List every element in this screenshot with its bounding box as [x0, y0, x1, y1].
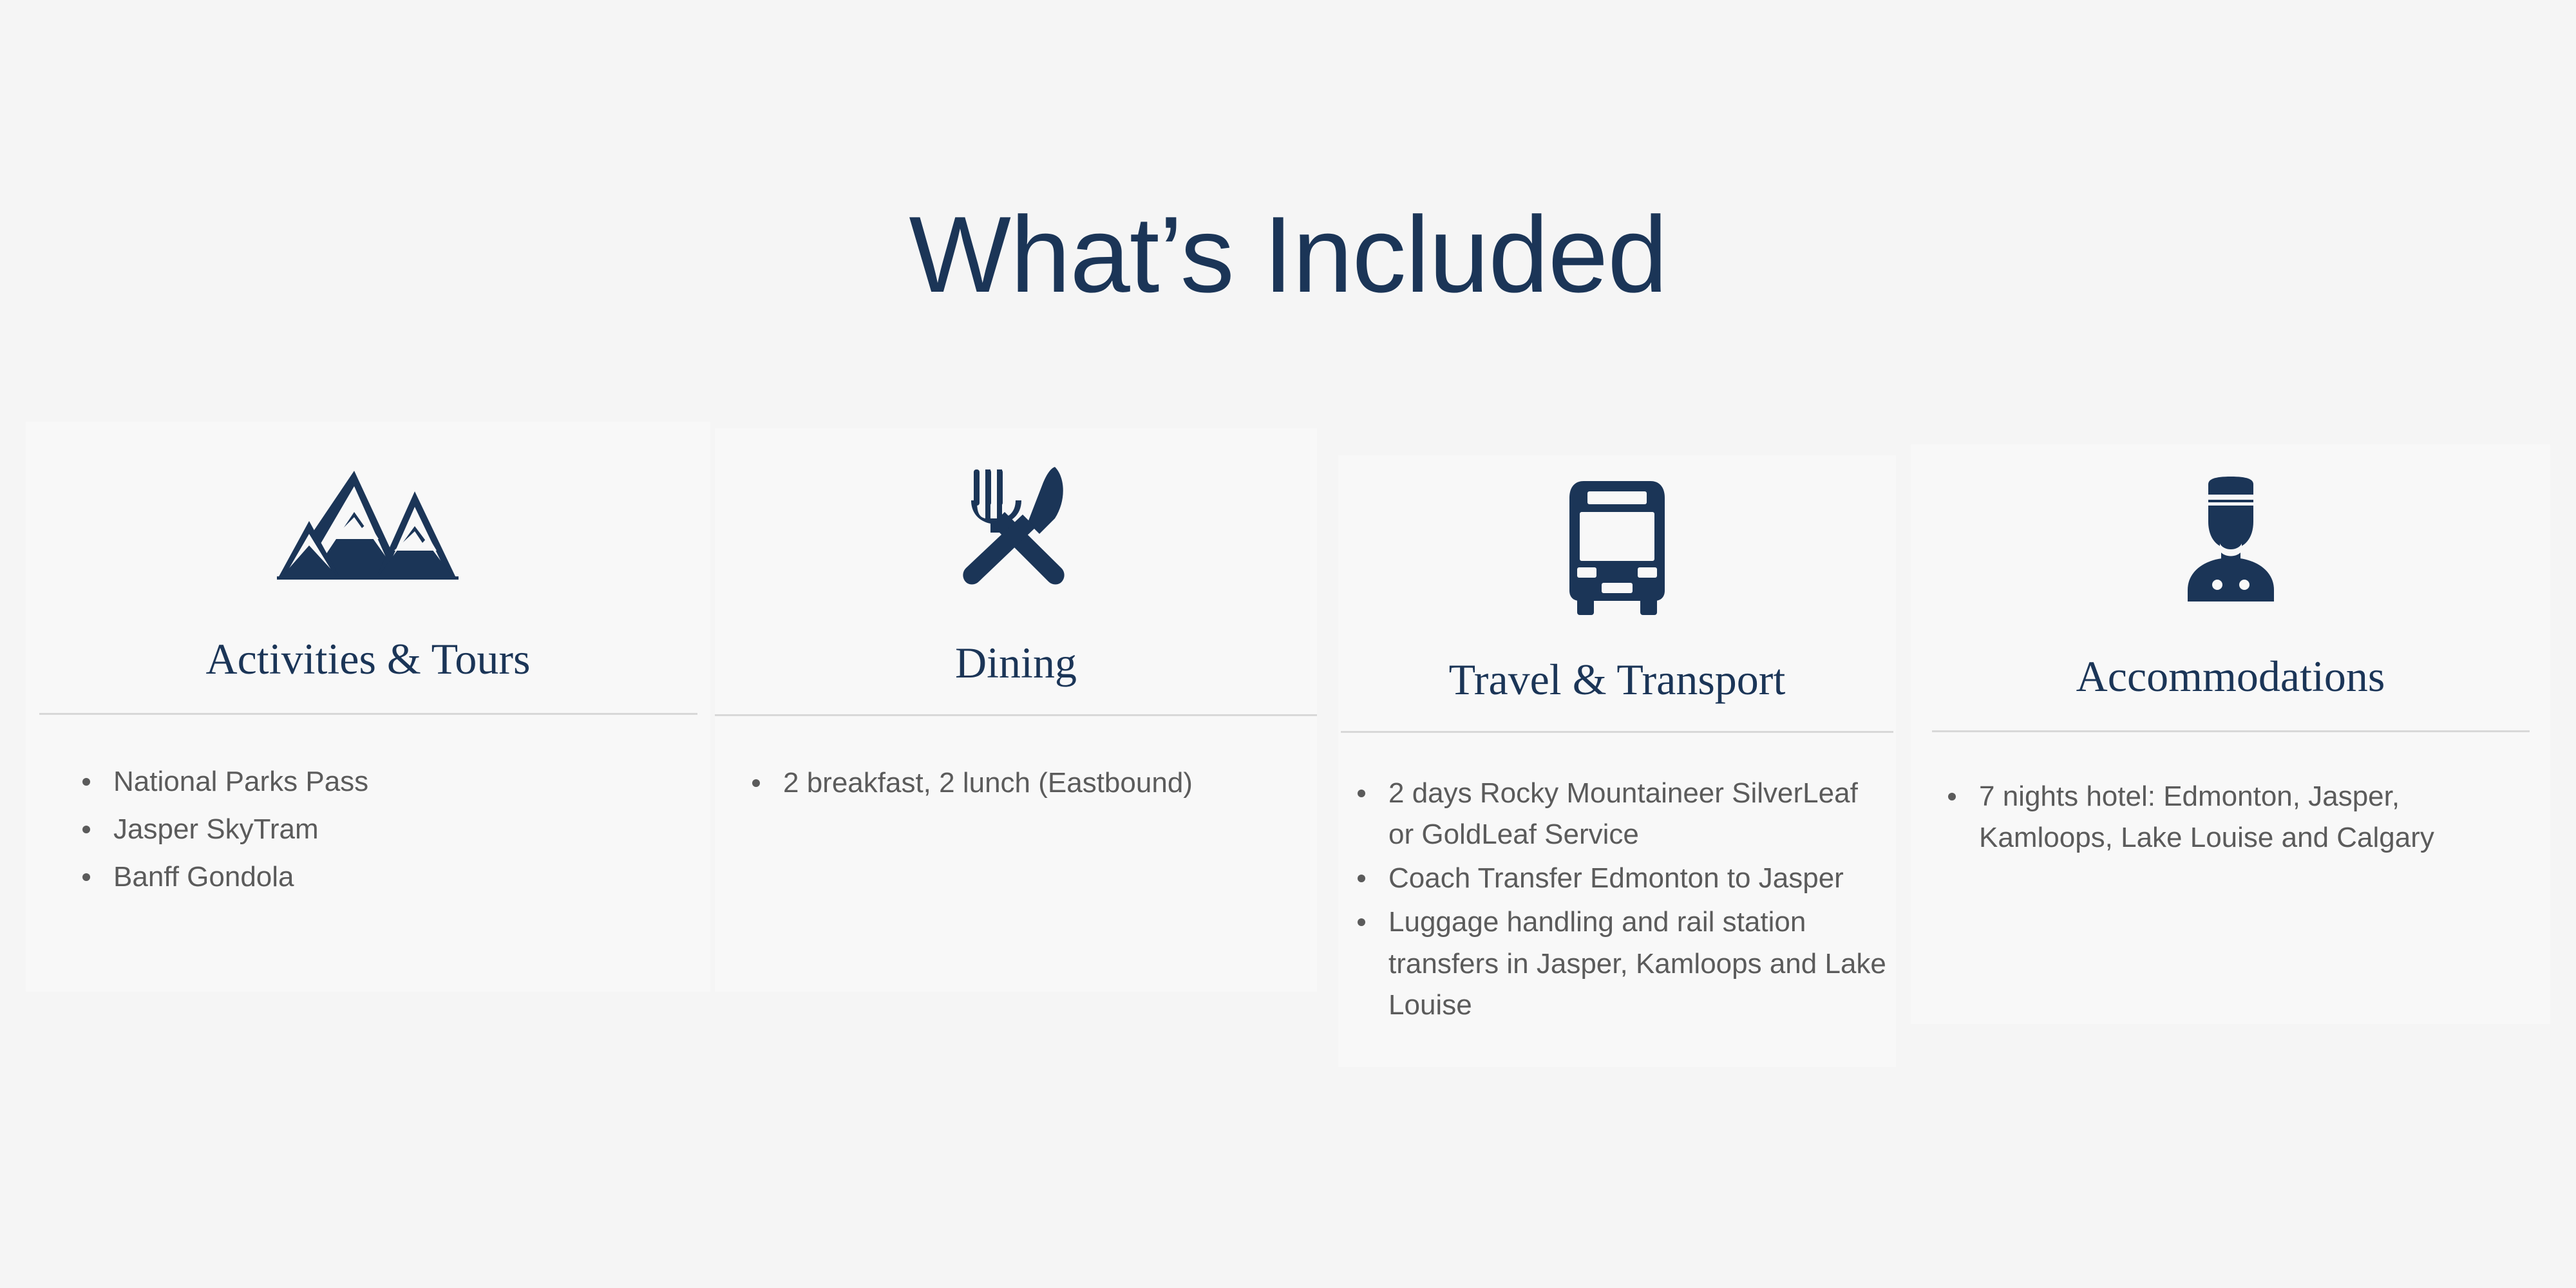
card-heading: Activities & Tours	[26, 633, 710, 686]
card-heading: Accommodations	[1911, 650, 2550, 703]
list-item: Banff Gondola	[68, 857, 648, 898]
card-divider	[1341, 731, 1893, 733]
inclusions-list: 2 breakfast, 2 lunch (Eastbound)	[738, 762, 1305, 804]
card-divider	[1932, 730, 2530, 732]
bellhop-icon	[1911, 444, 2550, 605]
page-title: What’s Included	[0, 195, 2576, 314]
card-heading: Travel & Transport	[1338, 654, 1896, 706]
card-heading: Dining	[715, 637, 1317, 690]
whats-included-section: What’s Included	[0, 0, 2576, 1288]
inclusions-card-grid: Activities & Tours National Parks Pass J…	[0, 412, 2576, 1095]
list-item: 2 days Rocky Mountaineer SilverLeaf or G…	[1343, 773, 1888, 855]
list-item: Jasper SkyTram	[68, 809, 648, 850]
card-accommodations: Accommodations 7 nights hotel: Edmonton,…	[1911, 444, 2550, 1024]
bus-icon	[1338, 455, 1896, 616]
card-activities-and-tours: Activities & Tours National Parks Pass J…	[26, 422, 710, 992]
inclusions-list: National Parks Pass Jasper SkyTram Banff…	[68, 761, 648, 898]
list-item: Luggage handling and rail station transf…	[1343, 902, 1888, 1026]
list-item: National Parks Pass	[68, 761, 648, 802]
mountains-icon	[26, 422, 710, 583]
card-dining: Dining 2 breakfast, 2 lunch (Eastbound)	[715, 428, 1317, 992]
card-divider	[715, 714, 1317, 716]
list-item: 7 nights hotel: Edmonton, Jasper, Kamloo…	[1934, 776, 2539, 858]
card-travel-and-transport: Travel & Transport 2 days Rocky Mountain…	[1338, 455, 1896, 1067]
inclusions-list: 7 nights hotel: Edmonton, Jasper, Kamloo…	[1934, 776, 2539, 858]
inclusions-list: 2 days Rocky Mountaineer SilverLeaf or G…	[1343, 773, 1888, 1026]
card-divider	[39, 713, 697, 715]
list-item: Coach Transfer Edmonton to Jasper	[1343, 858, 1888, 899]
fork-knife-icon	[715, 428, 1317, 589]
list-item: 2 breakfast, 2 lunch (Eastbound)	[738, 762, 1305, 804]
